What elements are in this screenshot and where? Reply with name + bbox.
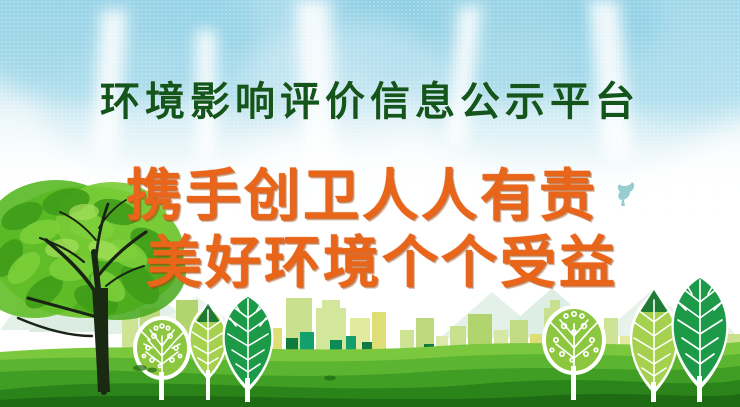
page-title: 环境影响评价信息公示平台 — [0, 69, 740, 127]
environment-banner: 环境影响评价信息公示平台 携手创卫人人有责 美好环境个个受益 — [0, 0, 740, 407]
slogan-line-2: 美好环境个个受益 — [12, 218, 740, 299]
ground-hills — [0, 342, 740, 407]
